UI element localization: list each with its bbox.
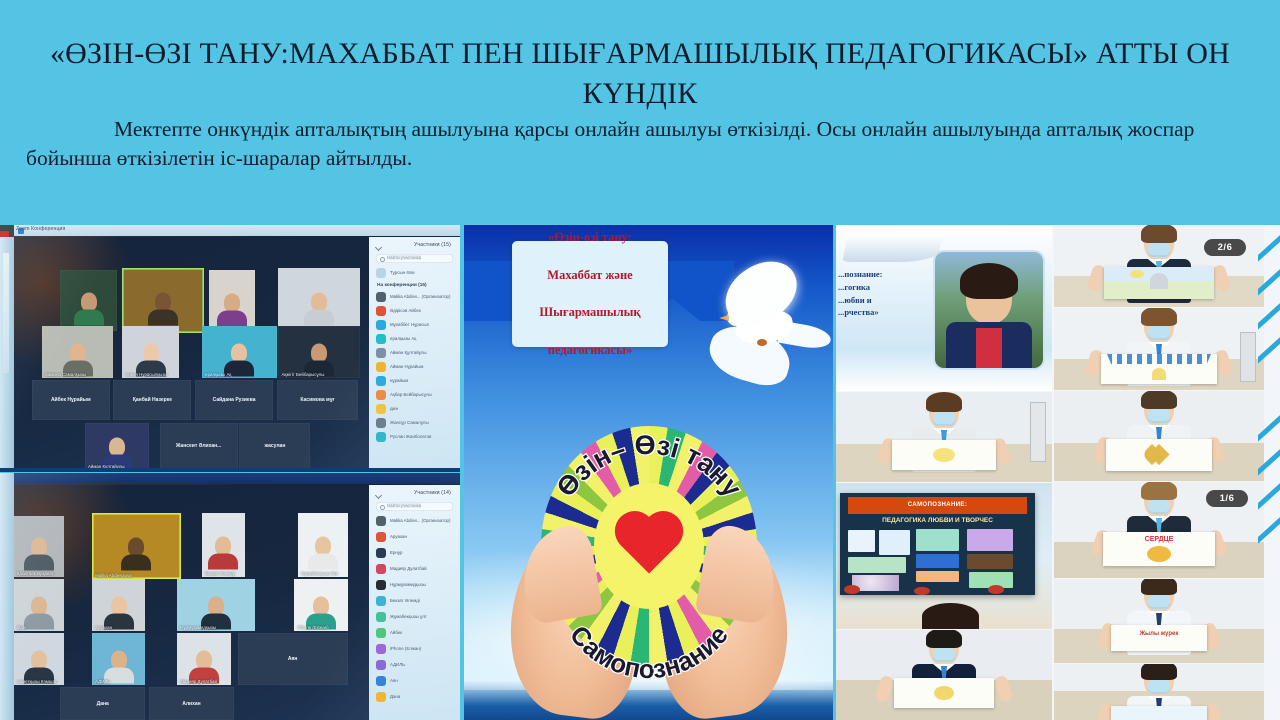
search-placeholder: Найти участника	[387, 503, 421, 508]
list-item[interactable]: Жансұр Самалұлы	[376, 417, 455, 430]
student-photo-body	[1054, 664, 1264, 720]
video-tile[interactable]: Ақжігіт Бейбарысұлы	[278, 326, 360, 378]
paper-flower	[988, 585, 1004, 594]
drawing-caption: СЕРДЦЕ	[1145, 536, 1174, 543]
student-drawing	[1111, 706, 1207, 720]
zoom-window-titlebar	[14, 225, 460, 236]
display-board: САМОПОЗНАНИЕ: ПЕДАГОГИКА ЛЮБВИ И ТВОРЧЕС	[840, 493, 1034, 595]
list-item[interactable]: ералқызы Ақ	[376, 333, 455, 346]
student-drawing	[1101, 354, 1217, 384]
board-subtitle: ПЕДАГОГИКА ЛЮБВИ И ТВОРЧЕС	[840, 515, 1034, 527]
video-tile-name: ералқызы Ақ	[205, 372, 231, 377]
video-tile[interactable]: Бекзат Әлемді	[202, 513, 245, 576]
list-item[interactable]: Нұрмұхамедқызы	[376, 579, 455, 592]
participant-name: Нұрмұхамедқызы	[390, 582, 426, 587]
search-placeholder: Найти участника	[387, 255, 421, 260]
list-item[interactable]: Айбек	[376, 627, 455, 640]
video-tile-name: Айбек Нұрайым	[51, 397, 91, 403]
slide-root: «ӨЗІН-ӨЗІ ТАНУ:МАХАББАТ ПЕН ШЫҒАРМАШЫЛЫҚ…	[0, 0, 1280, 720]
list-item[interactable]: Дана	[376, 691, 455, 704]
participant-name: Жұмабекқызы ұлт	[390, 614, 427, 619]
student-drawing	[1104, 267, 1214, 299]
participant-name: Ернұр	[390, 550, 402, 555]
slide-counter-badge: 2/6	[1204, 239, 1246, 256]
participants-sidebar-header: Участники (15)	[369, 241, 460, 251]
logo-top-arc-text: Өзін– Өзі тану	[550, 430, 747, 503]
participant-name: Айбек	[390, 630, 402, 635]
student-drawing	[894, 678, 994, 708]
video-tile-audio-only[interactable]: Аян	[238, 633, 348, 685]
video-tile[interactable]: Жұмабекқызы Әні	[298, 513, 348, 576]
list-item[interactable]: Руслан Жанболатов	[376, 431, 455, 444]
video-tile[interactable]: Мұхаббет Нұрасыл	[278, 268, 360, 334]
student-photo	[1054, 308, 1264, 390]
participant-name: Аян	[390, 678, 398, 683]
participant-name: Айман Құлтайұлы	[390, 350, 427, 355]
paper-flower	[844, 585, 860, 594]
video-tile-name: Анеля Нұрасылқызы	[125, 372, 167, 377]
student-photo-body	[1054, 391, 1264, 481]
avatar	[376, 334, 386, 344]
participants-count-label: Участники (15)	[414, 242, 451, 248]
drawing-caption: Жылы жүрек	[1140, 631, 1179, 637]
decorative-stripes	[1258, 225, 1280, 720]
avatar	[376, 418, 386, 428]
zoom-screenshot-bottom: Қабатбек Әрқанат Malika Abdievaova Бекза…	[0, 473, 460, 720]
video-tile-audio-only[interactable]: Қанбай Назерке	[113, 380, 191, 420]
avatar	[376, 644, 386, 654]
video-tile[interactable]: ералқызы Ақ	[202, 326, 277, 378]
student-photo-body: Жылы жүрек	[1054, 579, 1264, 663]
participant-avatar	[311, 292, 327, 311]
person-silhouette	[922, 603, 978, 629]
student-photo	[1054, 664, 1264, 720]
student-photo	[1054, 391, 1264, 481]
video-tile-name: Жансеит Әлихан...	[176, 443, 221, 449]
avatar	[376, 432, 386, 442]
video-tile[interactable]: Аруахан	[92, 579, 145, 631]
chevron-left-icon[interactable]	[375, 492, 382, 499]
list-item[interactable]: Әдірісов Айбек	[376, 305, 455, 318]
list-item[interactable]: нұрайым	[376, 375, 455, 388]
participant-search-input[interactable]: Найти участника	[376, 502, 453, 511]
video-tile[interactable]: Әділ	[14, 579, 64, 631]
student-photo-body	[1054, 308, 1264, 390]
participant-avatar	[31, 538, 47, 557]
student-drawing	[1106, 439, 1212, 471]
student-photo: СЕРДЦЕ 1/6	[1054, 482, 1264, 578]
participants-sidebar: Участники (15) Найти участника Тұрсын Әл…	[369, 237, 460, 472]
participant-avatar	[313, 596, 329, 615]
video-tile[interactable]: Әдірісов Айбек	[209, 270, 255, 333]
avatar	[376, 548, 386, 558]
zoom-window-titlebar-bottom	[14, 473, 460, 484]
zoom-gallery-stage: Қабатбек Әрқанат Malika Abdievaova Бекза…	[14, 485, 369, 720]
list-item[interactable]: Malika Abdiev... (Организатор)	[376, 515, 455, 528]
poster-title-text: «Өзін-өзі тану: Махаббат және Шығармашыл…	[523, 228, 656, 359]
video-tile-name: Жұмабекқызы Әні	[301, 571, 338, 576]
chevron-left-icon[interactable]	[375, 244, 382, 251]
avatar	[376, 628, 386, 638]
board-card	[848, 530, 875, 552]
participant-avatar	[31, 596, 47, 615]
zoom-meeting-photo-panel: Zoom Конференция Әлиш	[0, 225, 460, 720]
screen-left-bezel	[0, 473, 14, 720]
participants-group-label: На конференции (15)	[377, 283, 427, 288]
video-tile-audio-only[interactable]: Дана	[60, 687, 145, 720]
avatar	[376, 596, 386, 606]
avatar	[376, 516, 386, 526]
list-item[interactable]: iPhone (Елжан)	[376, 643, 455, 656]
participant-avatar	[143, 344, 159, 363]
page-title: «ӨЗІН-ӨЗІ ТАНУ:МАХАББАТ ПЕН ШЫҒАРМАШЫЛЫҚ…	[24, 34, 1256, 113]
video-tile-name: Қабатбек Әрқанат	[17, 571, 54, 576]
avatar	[376, 306, 386, 316]
video-tile[interactable]: Анеля Нұрасылқызы	[122, 326, 179, 378]
avatar	[376, 404, 386, 414]
participant-name: Бекзат Әлемді	[390, 598, 420, 603]
participant-name: Malika Abdiev... (Организатор)	[390, 518, 450, 523]
participant-avatar	[81, 292, 97, 311]
wall-display-board-photo: САМОПОЗНАНИЕ: ПЕДАГОГИКА ЛЮБВИ И ТВОРЧЕС	[836, 483, 1052, 629]
poster-title-card: «Өзін-өзі тану: Махаббат және Шығармашыл…	[512, 241, 668, 347]
video-tile-name: Алихан	[182, 701, 200, 707]
video-tile[interactable]: Қабатбек Әрқанат	[14, 516, 64, 577]
student-drawing: СЕРДЦЕ	[1103, 532, 1215, 566]
participant-name: iPhone (Елжан)	[390, 646, 421, 651]
video-tile-name: Бекзат Әлемді	[205, 571, 235, 576]
video-tile[interactable]: Әлиш	[60, 270, 117, 331]
avatar	[376, 390, 386, 400]
list-item[interactable]: Аян	[376, 675, 455, 688]
avatar	[376, 320, 386, 330]
board-card	[967, 529, 1014, 551]
image-strip: Zoom Конференция Әлиш	[0, 225, 1280, 720]
avatar	[376, 268, 386, 278]
body-paragraph: Мектепте онкүндік апталықтың ашылуына қа…	[26, 115, 1256, 172]
avatar	[376, 676, 386, 686]
participant-name: нұрайым	[390, 378, 408, 383]
avatar	[376, 348, 386, 358]
list-item[interactable]: Мадияр Дулатбай	[376, 563, 455, 576]
video-tile-audio-only[interactable]: жасулан	[239, 423, 310, 470]
video-tile-name: Мадияр Дулатбай	[180, 679, 217, 684]
avatar	[376, 692, 386, 702]
video-tile[interactable]: Нұрмұхамедқызы	[177, 579, 255, 631]
video-tile-name: АДИЛЬ	[95, 679, 110, 684]
participants-count-label: Участники (14)	[414, 490, 451, 496]
avatar	[376, 362, 386, 372]
video-tile-audio-only[interactable]: Айбек Нұрайым	[32, 380, 110, 420]
participant-avatar	[315, 537, 331, 556]
list-item[interactable]: Ақбар Бейбарысұлы	[376, 389, 455, 402]
logo-arc-text: Өзін– Өзі тану Самопознание	[506, 416, 792, 716]
whiteboard-marker-tray	[1240, 332, 1256, 382]
participant-avatar	[111, 650, 127, 669]
video-tile[interactable]: Айман Құлтайұлы	[85, 423, 149, 470]
video-tile-name: iPhone (Елжан)	[297, 625, 328, 630]
list-item[interactable]: Мұхаббет Нұрасыл	[376, 319, 455, 332]
participant-name: Мұхаббет Нұрасыл	[390, 322, 429, 327]
slide-photo-body: ...познание: ...гогика ...юбви и ...рчес…	[836, 225, 1052, 391]
board-card	[967, 554, 1014, 569]
video-tile[interactable]: iPhone (Елжан)	[294, 579, 347, 631]
zoom-screenshot-top: Zoom Конференция Әлиш	[0, 225, 460, 472]
list-item[interactable]: Айман Нұрайым	[376, 361, 455, 374]
video-tile-name: Аян	[288, 656, 298, 662]
video-tile-name: Malika Abdievaova	[95, 573, 132, 578]
participant-name: дмн	[390, 406, 398, 411]
list-item[interactable]: Тұрсын Әли	[376, 267, 455, 280]
paper-flower	[914, 587, 930, 595]
list-item[interactable]: Ернұр	[376, 547, 455, 560]
student-drawing	[892, 440, 996, 470]
board-card	[916, 571, 959, 582]
participant-name: Malika Abdiev... (Организатор)	[390, 294, 450, 299]
photo-collage-panel: ...познание: ...гогика ...юбви и ...рчес…	[836, 225, 1280, 720]
video-tile-name: Қанбай Назерке	[133, 397, 172, 403]
video-tile-name: Нұрмұхамедқызы	[180, 625, 216, 630]
avatar	[376, 580, 386, 590]
video-tile-active-speaker[interactable]: Malika Abdievaova	[122, 268, 204, 334]
video-tile-name: Аруахан	[95, 625, 112, 630]
whiteboard-marker-tray	[1030, 402, 1046, 462]
self-cognition-poster-panel: «Өзін-өзі тану: Махаббат және Шығармашыл…	[464, 225, 833, 720]
board-title-banner: САМОПОЗНАНИЕ:	[848, 497, 1027, 513]
participant-name: ералқызы Ақ	[390, 336, 416, 341]
video-tile-name: жасулан	[264, 443, 285, 449]
student-photo	[836, 630, 1052, 720]
video-tile-audio-only[interactable]: Жансеит Әлихан...	[160, 423, 238, 470]
presentation-slide-photo: ...познание: ...гогика ...юбви и ...рчес…	[836, 225, 1052, 391]
video-tile-audio-only[interactable]: Касимова мұғ	[277, 380, 359, 420]
participant-avatar	[224, 293, 240, 312]
list-item[interactable]: АДИЛЬ	[376, 659, 455, 672]
video-tile-active-speaker[interactable]: Malika Abdievaova	[92, 513, 181, 579]
student-photo: 2/6	[1054, 225, 1264, 307]
video-tile-name: Ахметқызы Кәмшат	[17, 679, 57, 684]
participant-name: Аруахан	[390, 534, 407, 539]
video-tile[interactable]: АДИЛЬ	[92, 633, 145, 685]
participant-name: Әдірісов Айбек	[390, 308, 421, 313]
video-tile-audio-only[interactable]: Алихан	[149, 687, 234, 720]
avatar	[376, 532, 386, 542]
board-card	[916, 529, 959, 551]
participant-avatar	[31, 650, 47, 669]
board-card	[879, 530, 910, 555]
participant-avatar	[231, 344, 247, 363]
participant-name: Айман Нұрайым	[390, 364, 423, 369]
zoom-window-title: Zoom Конференция	[16, 226, 65, 232]
participant-name: Руслан Жанболатов	[390, 434, 431, 439]
participant-name: Мадияр Дулатбай	[390, 566, 427, 571]
teacher-portrait-photo	[935, 252, 1043, 368]
participant-name: Дана	[390, 694, 400, 699]
video-tile[interactable]: Мадияр Дулатбай	[177, 633, 230, 685]
logo-bottom-arc-text: Самопознание	[563, 620, 733, 685]
video-tile-audio-only[interactable]: Сайдана Рузиева	[195, 380, 273, 420]
video-tile[interactable]: Ахметқызы Кәмшат	[14, 633, 64, 685]
participant-avatar	[155, 292, 171, 311]
video-tile-name: Ақжігіт Бейбарысұлы	[281, 372, 324, 377]
student-photo-body	[836, 630, 1052, 720]
slide-counter-badge: 1/6	[1206, 490, 1248, 507]
video-tile[interactable]: Камила Самалқызы	[42, 326, 113, 378]
participant-name: Тұрсын Әли	[390, 270, 415, 275]
screenshot-divider	[0, 468, 460, 472]
student-photo: Жылы жүрек	[1054, 579, 1264, 663]
avatar	[376, 660, 386, 670]
avatar	[376, 612, 386, 622]
student-photo-body	[836, 392, 1052, 482]
video-tile-name: Дана	[97, 701, 109, 707]
list-item[interactable]: Аруахан	[376, 531, 455, 544]
participant-name: АДИЛЬ	[390, 662, 405, 667]
board-card	[916, 554, 959, 568]
video-tile-name: Сайдана Рузиева	[213, 397, 256, 403]
list-item[interactable]: Бекзат Әлемді	[376, 595, 455, 608]
list-item[interactable]: дмн	[376, 403, 455, 416]
participant-avatar	[196, 650, 212, 669]
board-card	[848, 557, 906, 573]
list-item[interactable]: Жұмабекқызы ұлт	[376, 611, 455, 624]
video-tile-name: Касимова мұғ	[300, 397, 334, 403]
student-photo-body	[1054, 225, 1264, 307]
participant-avatar	[215, 537, 231, 556]
avatar	[376, 292, 386, 302]
search-icon	[380, 257, 385, 262]
participant-search-input[interactable]: Найти участника	[376, 254, 453, 263]
participant-avatar	[109, 438, 125, 457]
participant-avatar	[111, 596, 127, 615]
search-icon	[380, 505, 385, 510]
self-cognition-logo: Өзін– Өзі тану Самопознание	[506, 416, 792, 716]
avatar	[376, 564, 386, 574]
video-tile-name: Әділ	[17, 625, 26, 630]
screen-left-bezel-highlight	[3, 253, 9, 373]
student-photo	[836, 392, 1052, 482]
avatar	[376, 376, 386, 386]
participant-avatar	[311, 344, 327, 363]
participant-name: Ақбар Бейбарысұлы	[390, 392, 432, 397]
board-title-text: САМОПОЗНАНИЕ:	[908, 502, 967, 508]
participant-avatar	[128, 538, 144, 557]
page-curl-decoration	[842, 235, 943, 262]
student-drawing: Жылы жүрек	[1111, 625, 1207, 651]
list-item[interactable]: Malika Abdiev... (Организатор)	[376, 291, 455, 304]
list-item[interactable]: Айман Құлтайұлы	[376, 347, 455, 360]
participants-sidebar: Участники (14) Найти участника Malika Ab…	[369, 485, 460, 720]
video-tile-name: Камила Самалқызы	[45, 372, 86, 377]
participants-sidebar-header: Участники (14)	[369, 489, 460, 499]
board-subtitle-text: ПЕДАГОГИКА ЛЮБВИ И ТВОРЧЕС	[882, 517, 993, 524]
classroom-scene: САМОПОЗНАНИЕ: ПЕДАГОГИКА ЛЮБВИ И ТВОРЧЕС	[836, 483, 1052, 629]
zoom-gallery-stage: Әлиш Malika Abdievaova Әдірісов Айбек	[14, 237, 369, 472]
dove-icon	[679, 267, 829, 417]
participant-avatar	[70, 344, 86, 363]
participant-name: Жансұр Самалұлы	[390, 420, 429, 425]
participant-avatar	[208, 596, 224, 615]
